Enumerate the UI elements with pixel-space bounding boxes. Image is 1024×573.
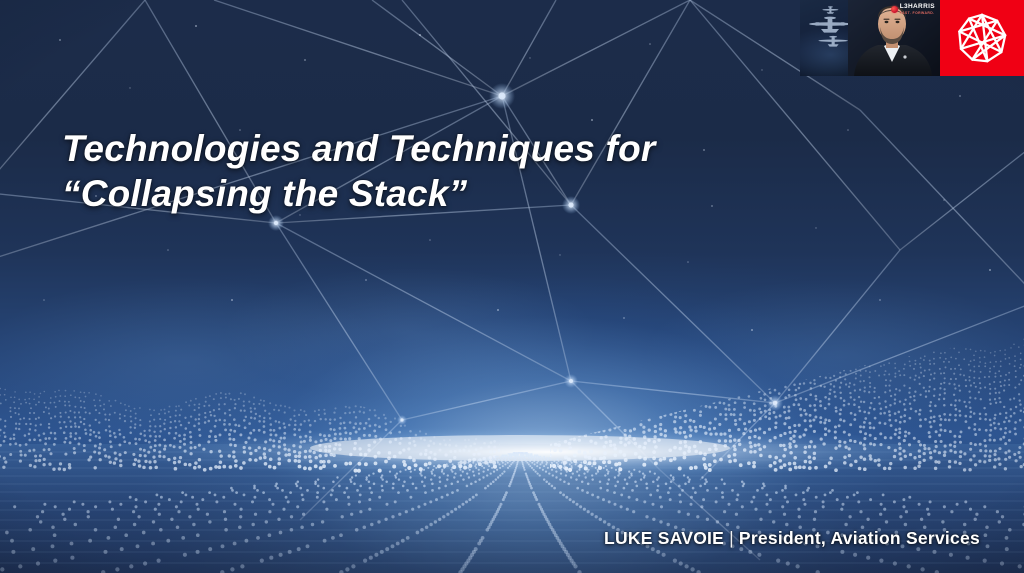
webcam-tile-speaker[interactable]: L3HARRIS FAST. FORWARD. [800, 0, 940, 76]
presenter-separator: | [729, 528, 734, 548]
l3harris-tagline: FAST. FORWARD. [900, 12, 935, 15]
slide-title: Technologies and Techniques for “Collaps… [62, 126, 655, 216]
slide-title-line-2: “Collapsing the Stack” [62, 171, 655, 216]
l3harris-logo: L3HARRIS FAST. FORWARD. [891, 4, 935, 15]
slide-title-line-1: Technologies and Techniques for [62, 126, 655, 171]
brand-logo-tile[interactable] [940, 0, 1024, 76]
presentation-slide: Technologies and Techniques for “Collaps… [0, 0, 1024, 573]
presenter-credit: LUKE SAVOIE|President, Aviation Services [604, 528, 980, 549]
l3harris-wordmark: L3HARRIS [900, 4, 935, 11]
presenter-role: President, Aviation Services [739, 528, 980, 548]
video-tile-strip: L3HARRIS FAST. FORWARD. [800, 0, 1024, 76]
l3harris-mark-icon [891, 6, 898, 13]
background-glow [0, 0, 1024, 573]
polyhedron-wireframe-icon [955, 11, 1009, 65]
presenter-name: LUKE SAVOIE [604, 528, 724, 548]
